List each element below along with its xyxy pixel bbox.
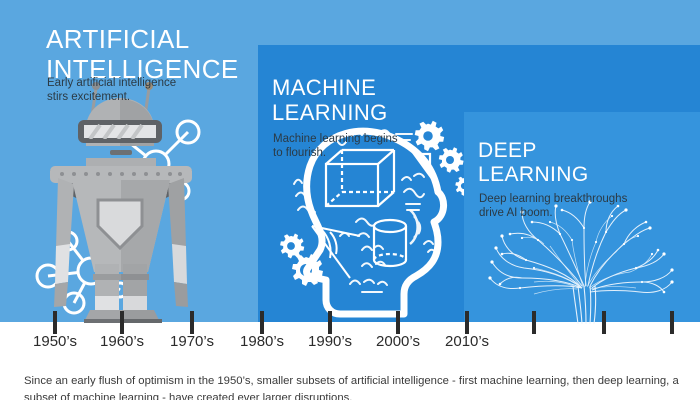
timeline-tick — [670, 311, 674, 334]
timeline-tick — [260, 311, 264, 334]
timeline-tick — [602, 311, 606, 334]
timeline-label: 1960’s — [100, 333, 144, 350]
timeline-tick — [120, 311, 124, 334]
timeline-label: 1970’s — [170, 333, 214, 350]
timeline-tick — [190, 311, 194, 334]
timeline-label: 2010’s — [445, 333, 489, 350]
timeline-tick — [53, 311, 57, 334]
infographic-canvas: ARTIFICIAL INTELLIGENCE Early artificial… — [0, 0, 700, 400]
timeline-tick — [465, 311, 469, 334]
timeline-label: 1980’s — [240, 333, 284, 350]
timeline-label: 2000’s — [376, 333, 420, 350]
timeline-label: 1950’s — [33, 333, 77, 350]
timeline-label: 1990’s — [308, 333, 352, 350]
caption-text: Since an early flush of optimism in the … — [24, 373, 684, 400]
timeline-tick — [396, 311, 400, 334]
timeline-axis: 1950’s1960’s1970’s1980’s1990’s2000’s2010… — [0, 0, 700, 400]
timeline-tick — [532, 311, 536, 334]
timeline-tick — [328, 311, 332, 334]
